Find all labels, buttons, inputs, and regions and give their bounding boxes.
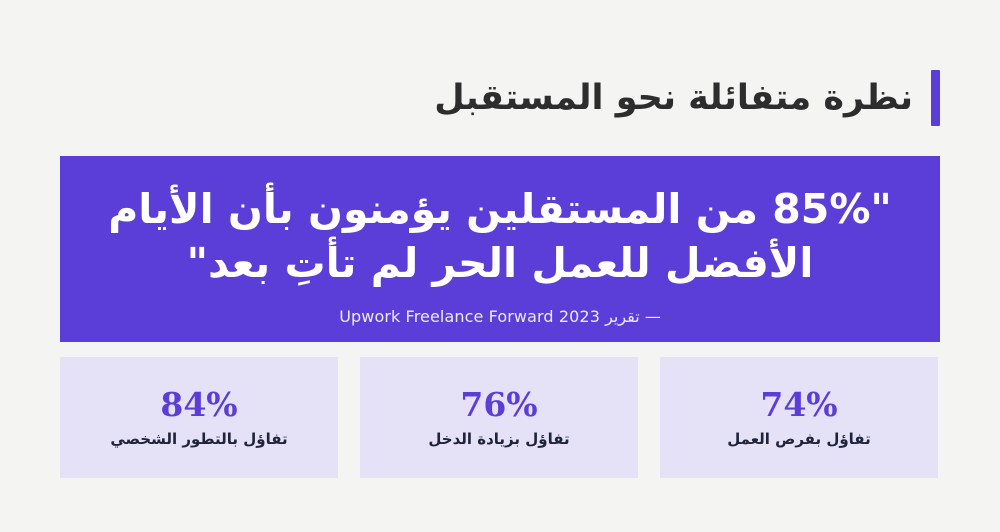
stat-card-income-growth: 76% تفاؤل بزيادة الدخل: [360, 357, 638, 478]
quote-text: "85% من المستقلين يؤمنون بأن الأيام الأف…: [94, 182, 906, 290]
stat-cards-row: 74% تفاؤل بفرص العمل 76% تفاؤل بزيادة ال…: [60, 357, 938, 478]
stat-card-personal-development: 84% تفاؤل بالتطور الشخصي: [60, 357, 338, 478]
stat-label: تفاؤل بزيادة الدخل: [428, 430, 569, 448]
stat-value: 74%: [760, 388, 837, 421]
quote-attribution: — تقرير Upwork Freelance Forward 2023: [94, 307, 906, 330]
heading-accent-bar-icon: [931, 70, 940, 126]
quote-banner: "85% من المستقلين يؤمنون بأن الأيام الأف…: [60, 156, 940, 342]
stat-label: تفاؤل بالتطور الشخصي: [110, 430, 287, 448]
infographic-page: نظرة متفائلة نحو المستقبل "85% من المستق…: [0, 0, 1000, 532]
stat-label: تفاؤل بفرص العمل: [727, 430, 870, 448]
stat-card-job-opportunities: 74% تفاؤل بفرص العمل: [660, 357, 938, 478]
stat-value: 76%: [460, 388, 537, 421]
stat-value: 84%: [160, 388, 237, 421]
page-title: نظرة متفائلة نحو المستقبل: [434, 78, 913, 118]
page-heading: نظرة متفائلة نحو المستقبل: [0, 66, 940, 130]
